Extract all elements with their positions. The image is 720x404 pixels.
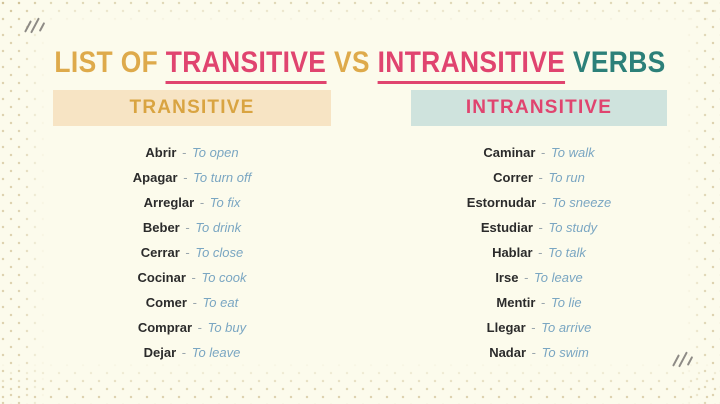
verb-list-item: Estudiar - To study: [411, 215, 667, 240]
verb-list-item: Mentir - To lie: [411, 290, 667, 315]
verb-term: Beber: [143, 220, 180, 235]
verb-separator: -: [526, 320, 542, 335]
verb-list-item: Nadar - To swim: [411, 340, 667, 365]
verb-list-item: Arreglar - To fix: [53, 190, 331, 215]
verb-translation: To walk: [551, 145, 595, 160]
verb-term: Comer: [146, 295, 187, 310]
verb-separator: -: [180, 220, 196, 235]
verb-list-item: Apagar - To turn off: [53, 165, 331, 190]
verb-term: Cerrar: [141, 245, 180, 260]
verb-separator: -: [535, 295, 551, 310]
verb-translation: To arrive: [541, 320, 591, 335]
verb-separator: -: [192, 320, 208, 335]
verb-term: Arreglar: [144, 195, 195, 210]
verb-list-item: Abrir - To open: [53, 140, 331, 165]
verb-list-item: Estornudar - To sneeze: [411, 190, 667, 215]
verb-separator: -: [533, 170, 549, 185]
verb-separator: -: [187, 295, 203, 310]
verb-separator: -: [526, 345, 542, 360]
verb-translation: To close: [195, 245, 243, 260]
verb-translation: To open: [192, 145, 239, 160]
verb-term: Dejar: [144, 345, 177, 360]
verb-term: Irse: [495, 270, 518, 285]
dot-texture-top: [0, 0, 720, 22]
verb-list-transitive: Abrir - To openApagar - To turn offArreg…: [53, 126, 331, 365]
verb-separator: -: [536, 195, 552, 210]
verb-term: Mentir: [496, 295, 535, 310]
verb-list-item: Cocinar - To cook: [53, 265, 331, 290]
verb-separator: -: [533, 245, 549, 260]
verb-term: Comprar: [138, 320, 192, 335]
column-intransitive: INTRANSITIVE Caminar - To walkCorrer - T…: [411, 90, 667, 365]
verb-list-item: Comprar - To buy: [53, 315, 331, 340]
verb-columns: TRANSITIVE Abrir - To openApagar - To tu…: [0, 90, 720, 365]
verb-list-item: Dejar - To leave: [53, 340, 331, 365]
verb-translation: To leave: [192, 345, 241, 360]
title-word-transitive: TRANSITIVE: [166, 46, 326, 81]
verb-term: Apagar: [133, 170, 178, 185]
column-heading-transitive: TRANSITIVE: [53, 90, 331, 126]
verb-term: Correr: [493, 170, 533, 185]
verb-translation: To leave: [534, 270, 583, 285]
verb-term: Estornudar: [467, 195, 536, 210]
verb-list-item: Llegar - To arrive: [411, 315, 667, 340]
title-word-vs: VS: [334, 46, 370, 80]
verb-separator: -: [186, 270, 202, 285]
column-heading-intransitive: INTRANSITIVE: [411, 90, 667, 126]
verb-translation: To cook: [201, 270, 246, 285]
verb-separator: -: [535, 145, 551, 160]
title-word-verbs: VERBS: [573, 46, 666, 80]
verb-term: Caminar: [483, 145, 535, 160]
verb-separator: -: [176, 145, 192, 160]
verb-term: Cocinar: [137, 270, 185, 285]
verb-translation: To lie: [551, 295, 582, 310]
column-transitive: TRANSITIVE Abrir - To openApagar - To tu…: [53, 90, 331, 365]
verb-translation: To buy: [208, 320, 247, 335]
verb-translation: To run: [548, 170, 584, 185]
verb-term: Nadar: [489, 345, 526, 360]
verb-list-item: Beber - To drink: [53, 215, 331, 240]
verb-translation: To study: [548, 220, 597, 235]
verb-translation: To swim: [542, 345, 589, 360]
sparkle-icon-top-left: [24, 16, 54, 42]
page-title: LIST OF TRANSITIVE VS INTRANSITIVE VERBS: [43, 46, 677, 81]
verb-term: Estudiar: [481, 220, 533, 235]
verb-translation: To sneeze: [552, 195, 612, 210]
verb-list-item: Comer - To eat: [53, 290, 331, 315]
verb-term: Llegar: [487, 320, 526, 335]
verb-list-item: Correr - To run: [411, 165, 667, 190]
verb-translation: To talk: [548, 245, 586, 260]
verb-list-item: Irse - To leave: [411, 265, 667, 290]
verb-translation: To fix: [210, 195, 241, 210]
verb-list-item: Cerrar - To close: [53, 240, 331, 265]
verb-translation: To drink: [195, 220, 241, 235]
verb-list-intransitive: Caminar - To walkCorrer - To runEstornud…: [411, 126, 667, 365]
verb-list-item: Hablar - To talk: [411, 240, 667, 265]
verb-separator: -: [533, 220, 549, 235]
dot-texture-bottom: [0, 362, 720, 404]
verb-separator: -: [518, 270, 534, 285]
verb-translation: To eat: [203, 295, 239, 310]
verb-separator: -: [194, 195, 210, 210]
verb-translation: To turn off: [193, 170, 251, 185]
verb-separator: -: [180, 245, 196, 260]
verb-separator: -: [176, 345, 192, 360]
title-word-list-of: LIST OF: [54, 46, 158, 80]
verb-separator: -: [178, 170, 194, 185]
verb-list-item: Caminar - To walk: [411, 140, 667, 165]
verb-term: Hablar: [492, 245, 532, 260]
title-word-intransitive: INTRANSITIVE: [378, 46, 566, 81]
verb-term: Abrir: [145, 145, 176, 160]
slide-canvas: LIST OF TRANSITIVE VS INTRANSITIVE VERBS…: [0, 0, 720, 404]
